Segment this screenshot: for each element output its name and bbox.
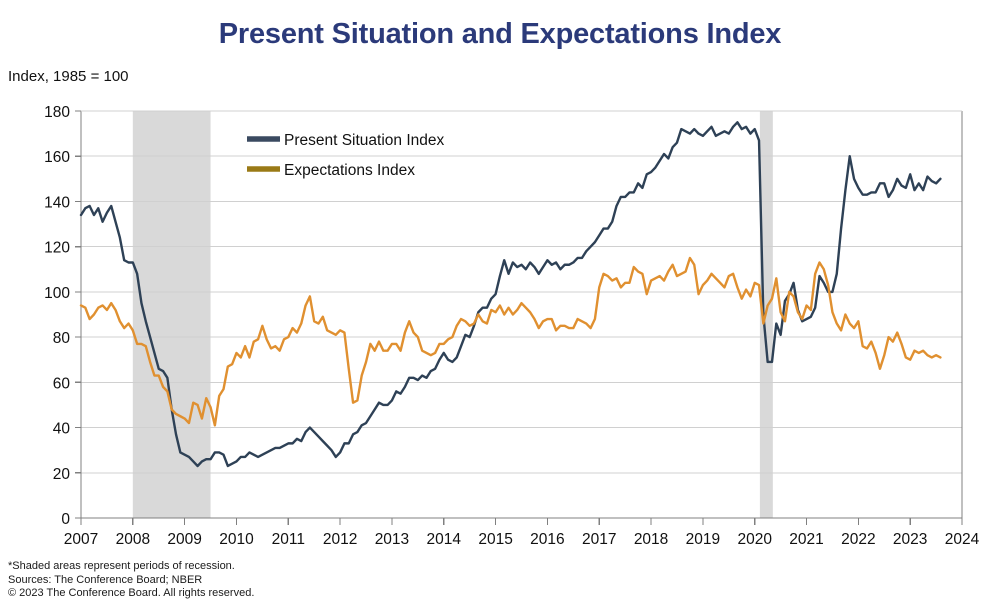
x-axis-tick-label: 2022 — [841, 531, 875, 548]
x-axis-tick-label: 2015 — [478, 531, 512, 548]
x-axis-tick-label: 2014 — [427, 531, 462, 548]
y-axis-tick-label: 100 — [44, 285, 70, 302]
chart-plot-svg: 020406080100120140160180 200720082009201… — [0, 0, 1000, 560]
y-axis-tick-label: 160 — [44, 149, 70, 166]
x-axis-tick-label: 2008 — [116, 531, 150, 548]
chart-container: Present Situation and Expectations Index… — [0, 0, 1000, 607]
x-axis-tick-label: 2011 — [272, 531, 305, 548]
x-axis-tick-label: 2016 — [530, 531, 564, 548]
x-axis-tick-label: 2010 — [219, 531, 254, 548]
chart-footnotes: *Shaded areas represent periods of reces… — [8, 560, 254, 601]
y-axis: 020406080100120140160180 — [44, 104, 81, 528]
chart-legend: Present Situation IndexExpectations Inde… — [247, 132, 445, 179]
y-axis-tick-label: 40 — [53, 421, 71, 438]
footnote-recession: *Shaded areas represent periods of reces… — [8, 560, 254, 574]
y-axis-tick-label: 60 — [53, 375, 71, 392]
y-axis-tick-label: 120 — [44, 240, 70, 257]
footnote-copyright: © 2023 The Conference Board. All rights … — [8, 587, 254, 601]
x-axis-tick-label: 2009 — [167, 531, 201, 548]
y-axis-tick-label: 180 — [44, 104, 70, 121]
x-axis-tick-label: 2007 — [64, 531, 98, 548]
y-axis-tick-label: 20 — [53, 466, 71, 483]
x-axis-tick-label: 2023 — [893, 531, 927, 548]
x-axis-tick-label: 2018 — [634, 531, 668, 548]
recession-bands — [133, 111, 773, 518]
y-axis-tick-label: 80 — [53, 330, 71, 347]
footnote-sources: Sources: The Conference Board; NBER — [8, 574, 254, 588]
x-axis-tick-label: 2019 — [686, 531, 720, 548]
y-axis-tick-label: 140 — [44, 194, 70, 211]
x-axis-tick-label: 2017 — [582, 531, 616, 548]
legend-label: Expectations Index — [284, 162, 415, 179]
x-axis-tick-label: 2012 — [323, 531, 357, 548]
x-axis-tick-label: 2013 — [375, 531, 409, 548]
legend-label: Present Situation Index — [284, 132, 445, 149]
y-axis-tick-label: 0 — [61, 511, 70, 528]
x-axis-tick-label: 2021 — [789, 531, 823, 548]
x-axis-tick-label: 2020 — [737, 531, 772, 548]
x-axis-tick-label: 2024 — [945, 531, 980, 548]
